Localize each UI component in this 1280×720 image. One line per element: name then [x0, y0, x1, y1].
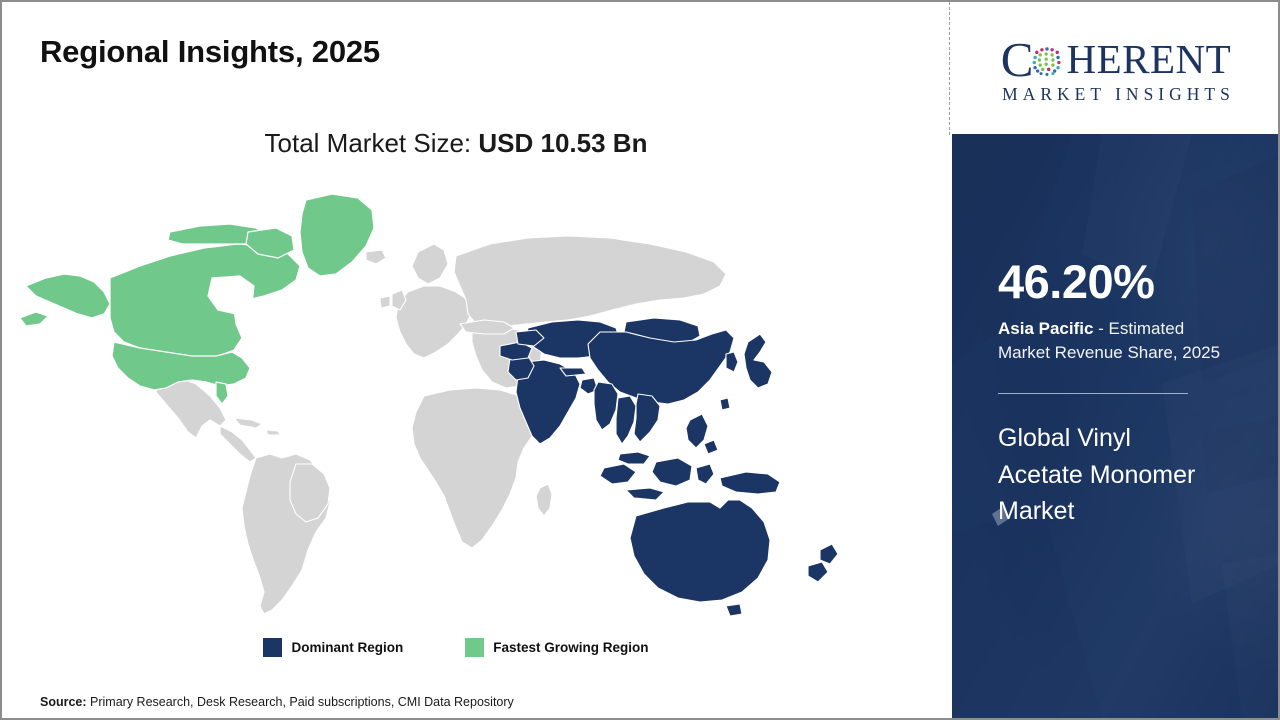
highlight-panel: 46.20% Asia Pacific - Estimated Market R…: [952, 134, 1280, 718]
region-papua-new-guinea: [720, 472, 780, 494]
world-map[interactable]: [20, 182, 900, 622]
region-iceland: [366, 250, 386, 264]
region-africa: [412, 388, 536, 548]
stat-region-name: Asia Pacific: [998, 319, 1093, 338]
region-tasmania: [726, 604, 742, 616]
market-size-value: USD 10.53 Bn: [478, 128, 647, 158]
region-florida: [216, 382, 228, 404]
page-title: Regional Insights, 2025: [40, 34, 380, 70]
report-slide: Regional Insights, 2025 Total Market Siz…: [0, 0, 1280, 720]
region-australia: [630, 500, 770, 602]
panel-content: 46.20% Asia Pacific - Estimated Market R…: [998, 134, 1262, 529]
region-canada: [110, 244, 300, 358]
brand-logo[interactable]: C: [952, 2, 1280, 134]
region-japan: [744, 334, 772, 388]
left-content-pane: Regional Insights, 2025 Total Market Siz…: [2, 2, 950, 718]
region-new-zealand-south: [808, 562, 828, 582]
region-new-zealand-north: [820, 544, 838, 564]
stat-caption: Asia Pacific - Estimated Market Revenue …: [998, 317, 1238, 365]
region-malaysia: [618, 452, 650, 464]
region-sulawesi: [696, 464, 714, 484]
stat-percentage: 46.20%: [998, 258, 1262, 305]
source-note: Source: Primary Research, Desk Research,…: [40, 695, 514, 709]
map-legend: Dominant Region Fastest Growing Region: [2, 638, 910, 657]
region-sumatra: [600, 464, 636, 484]
region-madagascar: [536, 484, 552, 516]
region-russia: [454, 236, 726, 328]
region-korea: [726, 352, 738, 372]
globe-icon: [1030, 43, 1064, 77]
market-size-label: Total Market Size:: [265, 128, 479, 158]
legend-item-dominant[interactable]: Dominant Region: [263, 638, 403, 657]
source-text: Primary Research, Desk Research, Paid su…: [87, 695, 514, 709]
logo-letter-c: C: [1001, 35, 1033, 84]
region-borneo: [652, 458, 692, 486]
logo-tagline: MARKET INSIGHTS: [997, 84, 1235, 105]
logo-wordmark-row: C: [1001, 38, 1231, 82]
source-key: Source:: [40, 695, 87, 709]
legend-swatch-fastest-growing: [465, 638, 484, 657]
legend-label-fastest-growing: Fastest Growing Region: [493, 640, 648, 655]
region-taiwan: [720, 398, 730, 410]
region-philippines-south: [704, 440, 718, 454]
right-column: C: [952, 2, 1280, 718]
panel-divider-rule: [998, 393, 1188, 394]
report-title: Global Vinyl Acetate Monomer Market: [998, 420, 1198, 529]
region-scandinavia: [412, 244, 448, 284]
region-thailand: [616, 396, 636, 444]
region-myanmar: [594, 382, 618, 430]
region-hispaniola: [266, 430, 280, 435]
total-market-size: Total Market Size: USD 10.53 Bn: [2, 128, 910, 159]
map-fastest-growing-regions[interactable]: [20, 194, 374, 404]
region-central-america: [220, 426, 256, 462]
legend-swatch-dominant: [263, 638, 282, 657]
region-ireland: [380, 296, 390, 308]
region-greenland: [300, 194, 374, 276]
region-cuba: [234, 418, 262, 428]
region-java: [626, 488, 664, 500]
region-aleutians: [20, 312, 48, 326]
legend-item-fastest-growing[interactable]: Fastest Growing Region: [465, 638, 648, 657]
vertical-dashed-divider: [949, 2, 950, 135]
legend-label-dominant: Dominant Region: [291, 640, 403, 655]
region-philippines: [686, 414, 708, 448]
region-alaska: [26, 274, 110, 318]
logo-wordmark: HERENT: [1066, 39, 1231, 80]
region-europe: [396, 286, 472, 358]
region-vietnam-laos-cambodia: [634, 394, 660, 442]
map-dominant-regions[interactable]: [500, 318, 838, 616]
